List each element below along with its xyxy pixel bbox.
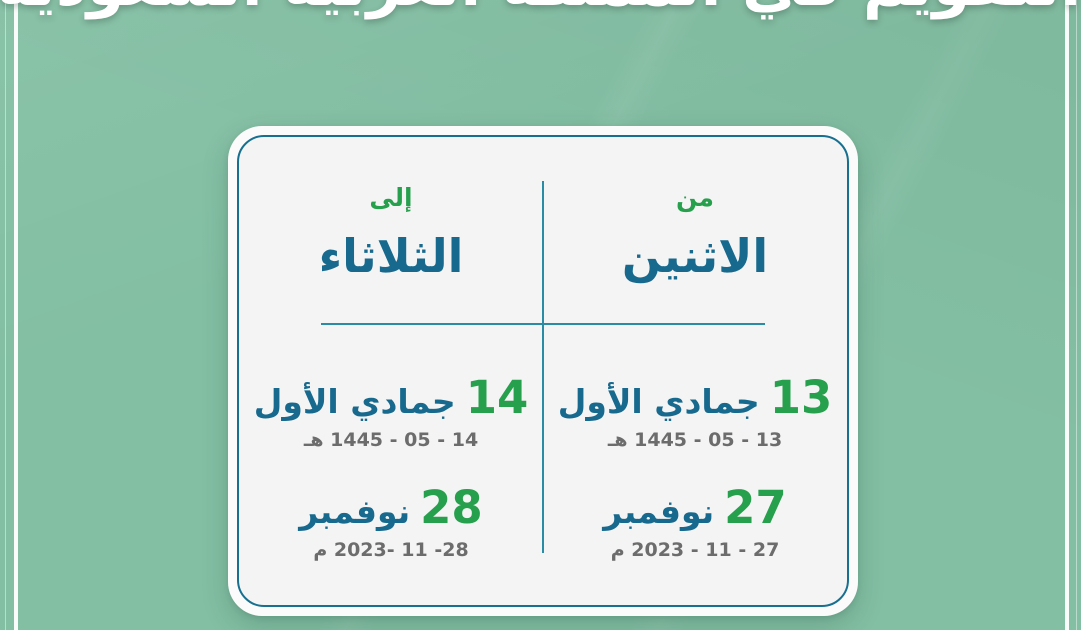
from-hijri-month: جمادي الأول [558, 385, 760, 418]
to-hijri-month: جمادي الأول [254, 385, 456, 418]
to-day-name: الثلاثاء [239, 233, 543, 279]
page-title: التقويم في المملكة العربية السعودية 2023 [0, 0, 1081, 23]
left-frame-rule [14, 0, 18, 630]
left-thin-frame-rule [5, 0, 6, 630]
from-hijri-day: 13 [770, 375, 833, 420]
to-relation-label: إلى [239, 185, 543, 210]
date-range-poster: التقويم في المملكة العربية السعودية 2023… [0, 0, 1081, 630]
from-hijri-date: 13 جمادي الأول 13 - 05 - 1445 هـ [543, 375, 847, 450]
date-columns: من الاثنين 13 جمادي الأول 13 - 05 - 1445… [239, 137, 847, 605]
to-gregorian-day: 28 [420, 485, 483, 530]
from-column: من الاثنين 13 جمادي الأول 13 - 05 - 1445… [543, 137, 847, 605]
to-column: إلى الثلاثاء 14 جمادي الأول 14 - 05 - 14… [239, 137, 543, 605]
to-gregorian-numeric: 28- 11 -2023 م [239, 541, 543, 560]
to-hijri-date: 14 جمادي الأول 14 - 05 - 1445 هـ [239, 375, 543, 450]
from-relation-label: من [543, 185, 847, 210]
right-frame-rule [1065, 0, 1069, 630]
from-gregorian-numeric: 27 - 11 - 2023 م [543, 541, 847, 560]
to-hijri-day: 14 [466, 375, 529, 420]
right-thin-frame-rule [1076, 0, 1077, 630]
to-gregorian-line: 28 نوفمبر [239, 485, 543, 530]
to-hijri-numeric: 14 - 05 - 1445 هـ [239, 431, 543, 450]
from-gregorian-day: 27 [724, 485, 787, 530]
from-gregorian-date: 27 نوفمبر 27 - 11 - 2023 م [543, 485, 847, 560]
to-gregorian-date: 28 نوفمبر 28- 11 -2023 م [239, 485, 543, 560]
from-hijri-numeric: 13 - 05 - 1445 هـ [543, 431, 847, 450]
from-hijri-line: 13 جمادي الأول [543, 375, 847, 420]
from-gregorian-line: 27 نوفمبر [543, 485, 847, 530]
date-range-card: من الاثنين 13 جمادي الأول 13 - 05 - 1445… [228, 126, 858, 616]
date-range-card-inner: من الاثنين 13 جمادي الأول 13 - 05 - 1445… [237, 135, 849, 607]
to-hijri-line: 14 جمادي الأول [239, 375, 543, 420]
from-day-name: الاثنين [543, 233, 847, 279]
from-gregorian-month: نوفمبر [603, 495, 714, 528]
to-gregorian-month: نوفمبر [299, 495, 410, 528]
